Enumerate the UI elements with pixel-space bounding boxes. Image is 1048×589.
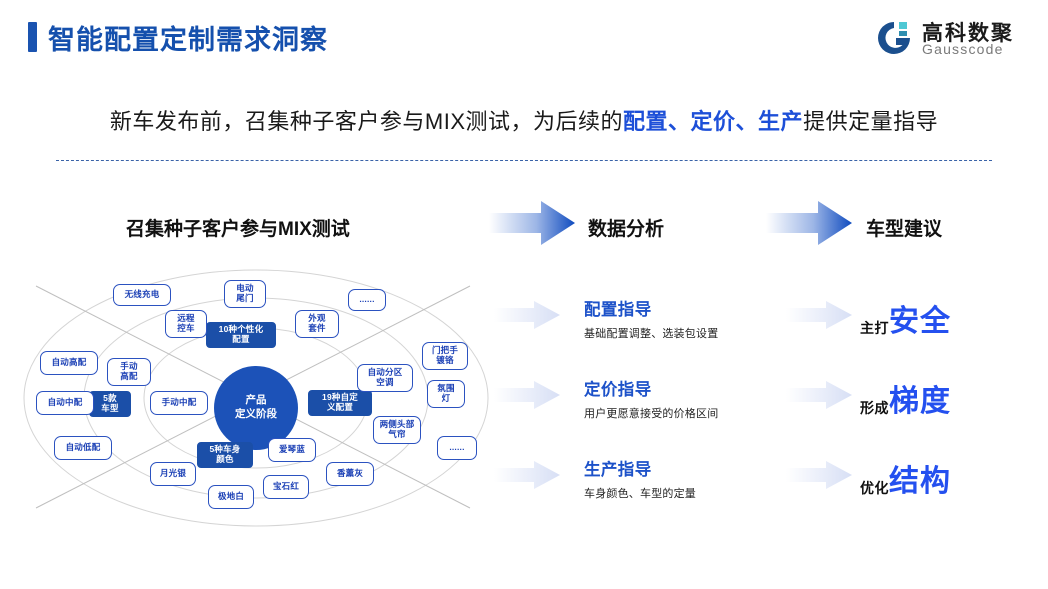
node-label-line2: 高配: [120, 372, 137, 382]
analysis-desc: 用户更愿意接受的价格区间: [584, 405, 794, 421]
advice-prefix: 优化: [860, 480, 889, 496]
analysis-desc: 车身颜色、车型的定量: [584, 485, 794, 501]
mindmap-node-lavender-gray: 香薰灰: [326, 462, 374, 486]
chip-line2: 颜色: [216, 455, 233, 465]
analysis-desc: 基础配置调整、选装包设置: [584, 325, 794, 341]
advice-arrow-icon-3: [786, 460, 852, 490]
advice-keyword: 结构: [889, 465, 951, 498]
mindmap-node-door-handle-chrome: 门把手 镀铬: [422, 342, 468, 370]
chip-line2: 配置: [232, 335, 249, 345]
gausscode-g-icon: [874, 20, 914, 56]
mindmap-node-remote-control: 远程 控车: [165, 310, 207, 338]
mindmap-node-auto-mid: 自动中配: [36, 391, 94, 415]
node-label-line2: 空调: [376, 378, 393, 388]
brand-logo: 高科数聚 Gausscode: [874, 16, 1026, 62]
mindmap-node-manual-high: 手动 高配: [107, 358, 151, 386]
mindmap-node-ambient-light: 氛围 灯: [427, 380, 465, 408]
mindmap-node-ellipsis-top: ......: [348, 289, 386, 311]
mindmap-node-ellipsis-right: ......: [437, 436, 477, 460]
logo-text-en: Gausscode: [922, 41, 1004, 57]
mindmap-node-polar-white: 极地白: [208, 485, 254, 509]
node-label-line2: 控车: [177, 324, 194, 334]
core-label-line2: 定义阶段: [235, 408, 277, 422]
title-accent-bar: [28, 22, 37, 52]
mindmap-node-auto-high: 自动高配: [40, 351, 98, 375]
advice-keyword-structure: 优化结构: [860, 456, 951, 500]
mindmap-node-dual-zone-ac: 自动分区 空调: [357, 364, 413, 392]
advice-keyword-tiering: 形成梯度: [860, 376, 951, 420]
column-heading-mix: 召集种子客户参与MIX测试: [126, 214, 350, 241]
node-label: 月光银: [160, 469, 186, 479]
mindmap-node-moonlight-silver: 月光银: [150, 462, 196, 486]
analysis-row-config: 配置指导 基础配置调整、选装包设置: [584, 296, 794, 341]
mindmap-node-aegean-blue: 爱琴蓝: [268, 438, 316, 462]
core-label-line1: 产品: [246, 394, 267, 408]
advice-keyword: 安全: [889, 305, 951, 338]
node-label: 自动低配: [66, 443, 101, 453]
advice-keyword: 梯度: [889, 385, 951, 418]
mindmap-node-power-tailgate: 电动 尾门: [224, 280, 266, 308]
mindmap-node-manual-mid: 手动中配: [150, 391, 208, 415]
mindmap-node-exterior-kit: 外观 套件: [295, 310, 339, 338]
subtitle-part1: 新车发布前，召集种子客户参与MIX测试，为后续的: [110, 109, 623, 134]
node-label-line2: 气帘: [388, 430, 405, 440]
node-label-line2: 尾门: [236, 294, 253, 304]
mindmap-node-auto-low: 自动低配: [54, 436, 112, 460]
mindmap-node-side-head-airbag: 两侧头部 气帘: [373, 416, 421, 444]
subtitle-part2: 提供定量指导: [803, 109, 938, 134]
slide-subtitle: 新车发布前，召集种子客户参与MIX测试，为后续的配置、定价、生产提供定量指导: [0, 104, 1048, 136]
node-label-line2: 灯: [442, 394, 451, 404]
node-label: 宝石红: [273, 482, 299, 492]
analysis-title: 配置指导: [584, 296, 794, 320]
node-label: 爱琴蓝: [279, 445, 305, 455]
node-label: 香薰灰: [337, 469, 363, 479]
analysis-row-production: 生产指导 车身颜色、车型的定量: [584, 456, 794, 501]
node-label: ......: [449, 443, 464, 453]
column-heading-advice: 车型建议: [866, 214, 942, 241]
analysis-title: 生产指导: [584, 456, 794, 480]
mindmap-chip-models: 5款 车型: [89, 391, 131, 417]
chip-line2: 车型: [101, 404, 118, 414]
advice-prefix: 主打: [860, 320, 889, 336]
row-arrow-icon-2: [494, 380, 560, 410]
analysis-row-pricing: 定价指导 用户更愿意接受的价格区间: [584, 376, 794, 421]
subtitle-highlight: 配置、定价、生产: [623, 109, 803, 134]
row-arrow-icon-3: [494, 460, 560, 490]
mindmap-chip-colors: 5种车身 颜色: [197, 442, 253, 468]
page-title: 智能配置定制需求洞察: [48, 18, 328, 57]
mindmap-node-wireless-charge: 无线充电: [113, 284, 171, 306]
node-label: 自动中配: [48, 398, 83, 408]
node-label: 手动中配: [162, 398, 197, 408]
row-arrow-icon-1: [494, 300, 560, 330]
analysis-title: 定价指导: [584, 376, 794, 400]
section-divider: [56, 160, 992, 161]
slide-header: 智能配置定制需求洞察 高科数聚 Gausscode: [0, 0, 1048, 72]
node-label-line2: 套件: [308, 324, 325, 334]
node-label: 自动高配: [52, 358, 87, 368]
advice-arrow-icon-2: [786, 380, 852, 410]
chip-line2: 义配置: [327, 403, 353, 413]
mindmap-chip-custom: 19种自定 义配置: [308, 390, 372, 416]
node-label-line2: 镀铬: [436, 356, 453, 366]
node-label: ......: [359, 295, 374, 305]
node-label: 极地白: [218, 492, 244, 502]
flow-arrow-icon-2: [766, 200, 852, 246]
mindmap-node-ruby-red: 宝石红: [263, 475, 309, 499]
node-label: 无线充电: [125, 290, 160, 300]
flow-arrow-icon-1: [489, 200, 575, 246]
slide: 智能配置定制需求洞察 高科数聚 Gausscode 新车发布前，召集种子客户参与…: [0, 0, 1048, 589]
advice-prefix: 形成: [860, 400, 889, 416]
advice-arrow-icon-1: [786, 300, 852, 330]
mindmap-chip-personalized: 10种个性化 配置: [206, 322, 276, 348]
mindmap-diagram: 产品 定义阶段 10种个性化 配置 19种自定 义配置 5款 车型 5种车身 颜…: [18, 258, 498, 538]
column-heading-analysis: 数据分析: [588, 214, 664, 241]
advice-keyword-safety: 主打安全: [860, 296, 951, 340]
